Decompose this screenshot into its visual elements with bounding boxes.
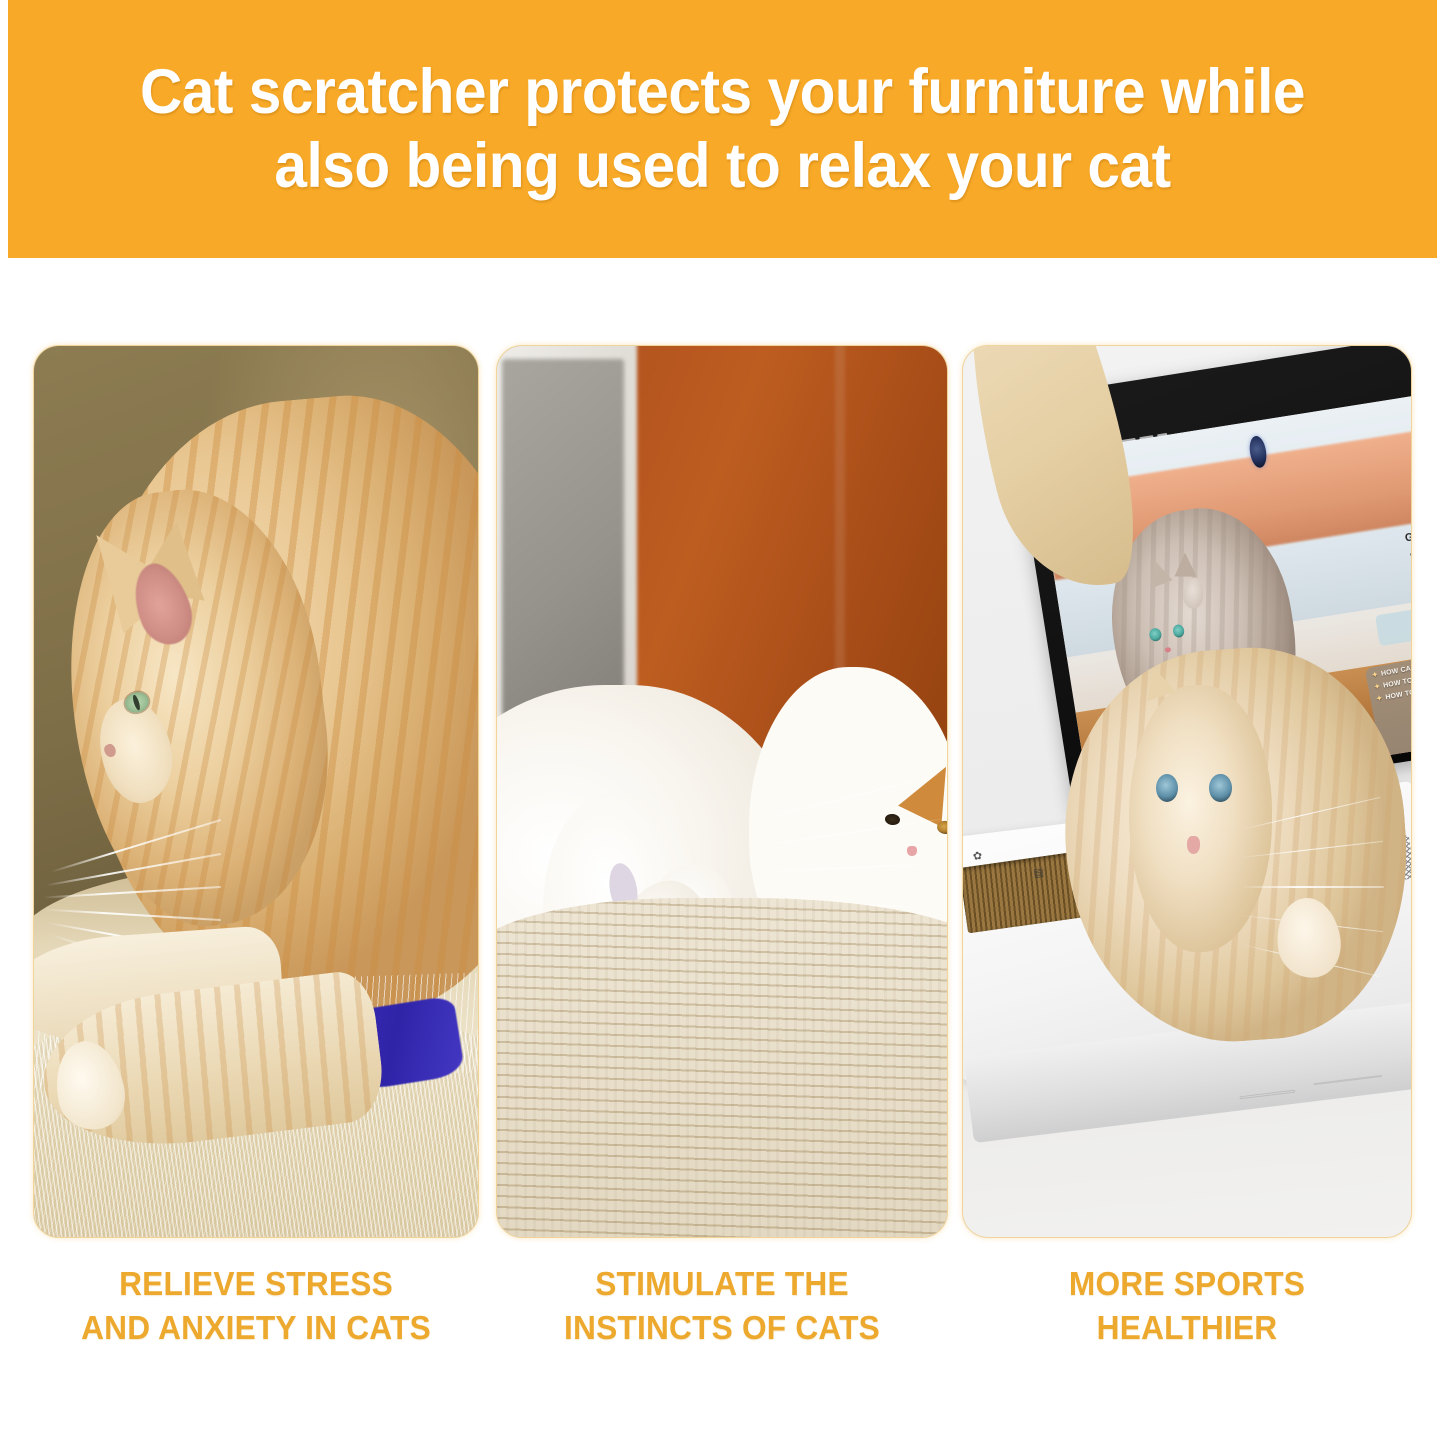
caption-more-sports: MORE SPORTS HEALTHIER <box>971 1262 1403 1350</box>
feature-panel-stimulate-instincts <box>496 345 948 1238</box>
feature-panel-more-sports: GOOD EVE 19 AIZC ✦ HOW CAN W ✦ HOW TO EF… <box>962 345 1412 1238</box>
caption-stimulate-instincts: STIMULATE THE INSTINCTS OF CATS <box>505 1262 939 1350</box>
photo-cat-with-toy-mouse <box>497 346 947 1237</box>
cardboard-scratcher-pad <box>497 898 947 1237</box>
paw-doodle-icon: ✿ <box>972 849 983 863</box>
kitten-eye-left <box>1156 774 1178 803</box>
feature-panel-row: GOOD EVE 19 AIZC ✦ HOW CAN W ✦ HOW TO EF… <box>0 345 1445 1240</box>
caption-line: STIMULATE THE <box>505 1262 939 1306</box>
caption-row: RELIEVE STRESS AND ANXIETY IN CATS STIMU… <box>0 1262 1445 1382</box>
feature-panel-relieve-stress <box>33 345 479 1238</box>
header-banner: Cat scratcher protects your furniture wh… <box>8 0 1437 258</box>
scratcher-slot-left <box>1240 1090 1296 1100</box>
scratcher-slot-right <box>1313 1075 1382 1086</box>
screen-cat-paw-raised <box>1182 576 1204 609</box>
caption-line: HEALTHIER <box>971 1306 1403 1350</box>
sparkle-icon: ✦ <box>1372 671 1380 680</box>
banner-title: Cat scratcher protects your furniture wh… <box>58 55 1387 204</box>
caption-line: INSTINCTS OF CATS <box>505 1306 939 1350</box>
photo-kitten-laptop-scratcher: GOOD EVE 19 AIZC ✦ HOW CAN W ✦ HOW TO EF… <box>963 346 1411 1237</box>
caption-relieve-stress: RELIEVE STRESS AND ANXIETY IN CATS <box>42 1262 470 1350</box>
kitten-eye-right <box>1209 774 1231 803</box>
sparkle-icon: ✦ <box>1376 694 1384 703</box>
sparkle-icon: ✦ <box>1374 683 1382 692</box>
caption-line: AND ANXIETY IN CATS <box>42 1306 470 1350</box>
screen-cat-eye-right <box>1172 623 1186 638</box>
caption-line: MORE SPORTS <box>971 1262 1403 1306</box>
screen-cat-ear-right <box>1175 552 1197 576</box>
screen-cat-nose <box>1164 647 1171 654</box>
caption-line: RELIEVE STRESS <box>42 1262 470 1306</box>
camera-doodle-icon: ▤ <box>1033 866 1045 880</box>
photo-ginger-cat-sisal <box>34 346 478 1237</box>
tip-text: HOW CAN W <box>1381 663 1411 680</box>
screen-cat-eye-left <box>1149 627 1163 642</box>
screen-cat-ear-left <box>1143 556 1173 588</box>
